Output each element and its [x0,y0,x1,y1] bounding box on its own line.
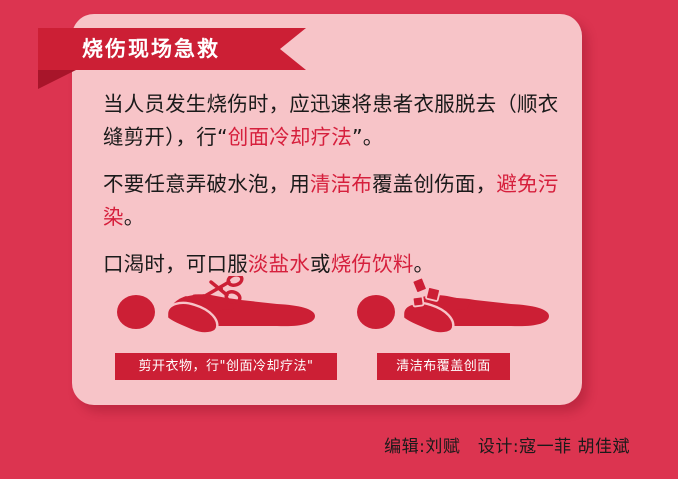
text-segment-1: 创面冷却疗法 [228,125,352,149]
poster-root: 烧伤现场急救 当人员发生烧伤时，应迅速将患者衣服脱去（顺衣缝剪开），行“创面冷却… [0,0,678,479]
text-segment-0: 不要任意弄破水泡，用 [103,172,310,196]
page-title: 烧伤现场急救 [82,28,277,70]
text-segment-1: 淡盐水 [248,252,310,276]
person-lying-with-scissors-icon [115,276,345,338]
paragraph-2: 不要任意弄破水泡，用清洁布覆盖创伤面，避免污染。 [103,168,573,234]
text-segment-4: 。 [414,252,435,276]
text-segment-2: 覆盖创伤面， [372,172,496,196]
credits-line: 编辑:刘赋 设计:寇一菲 胡佳斌 [0,432,630,457]
title-ribbon: 烧伤现场急救 [38,28,306,70]
text-segment-2: ”。 [352,125,384,149]
illustration-row [103,276,573,338]
body-copy: 当人员发生烧伤时，应迅速将患者衣服脱去（顺衣缝剪开），行“创面冷却疗法”。 不要… [103,88,573,281]
text-segment-0: 口渴时，可口服 [103,252,248,276]
caption-left: 剪开衣物，行"创面冷却疗法" [115,353,337,380]
text-segment-3: 烧伤饮料 [331,252,414,276]
person-lying-with-clean-cloth-icon [355,276,565,338]
text-segment-4: 。 [124,205,145,229]
ribbon-fold [38,70,76,89]
text-segment-2: 或 [310,252,331,276]
text-segment-1: 清洁布 [310,172,372,196]
caption-right: 清洁布覆盖创面 [377,353,510,380]
paragraph-1: 当人员发生烧伤时，应迅速将患者衣服脱去（顺衣缝剪开），行“创面冷却疗法”。 [103,88,573,154]
